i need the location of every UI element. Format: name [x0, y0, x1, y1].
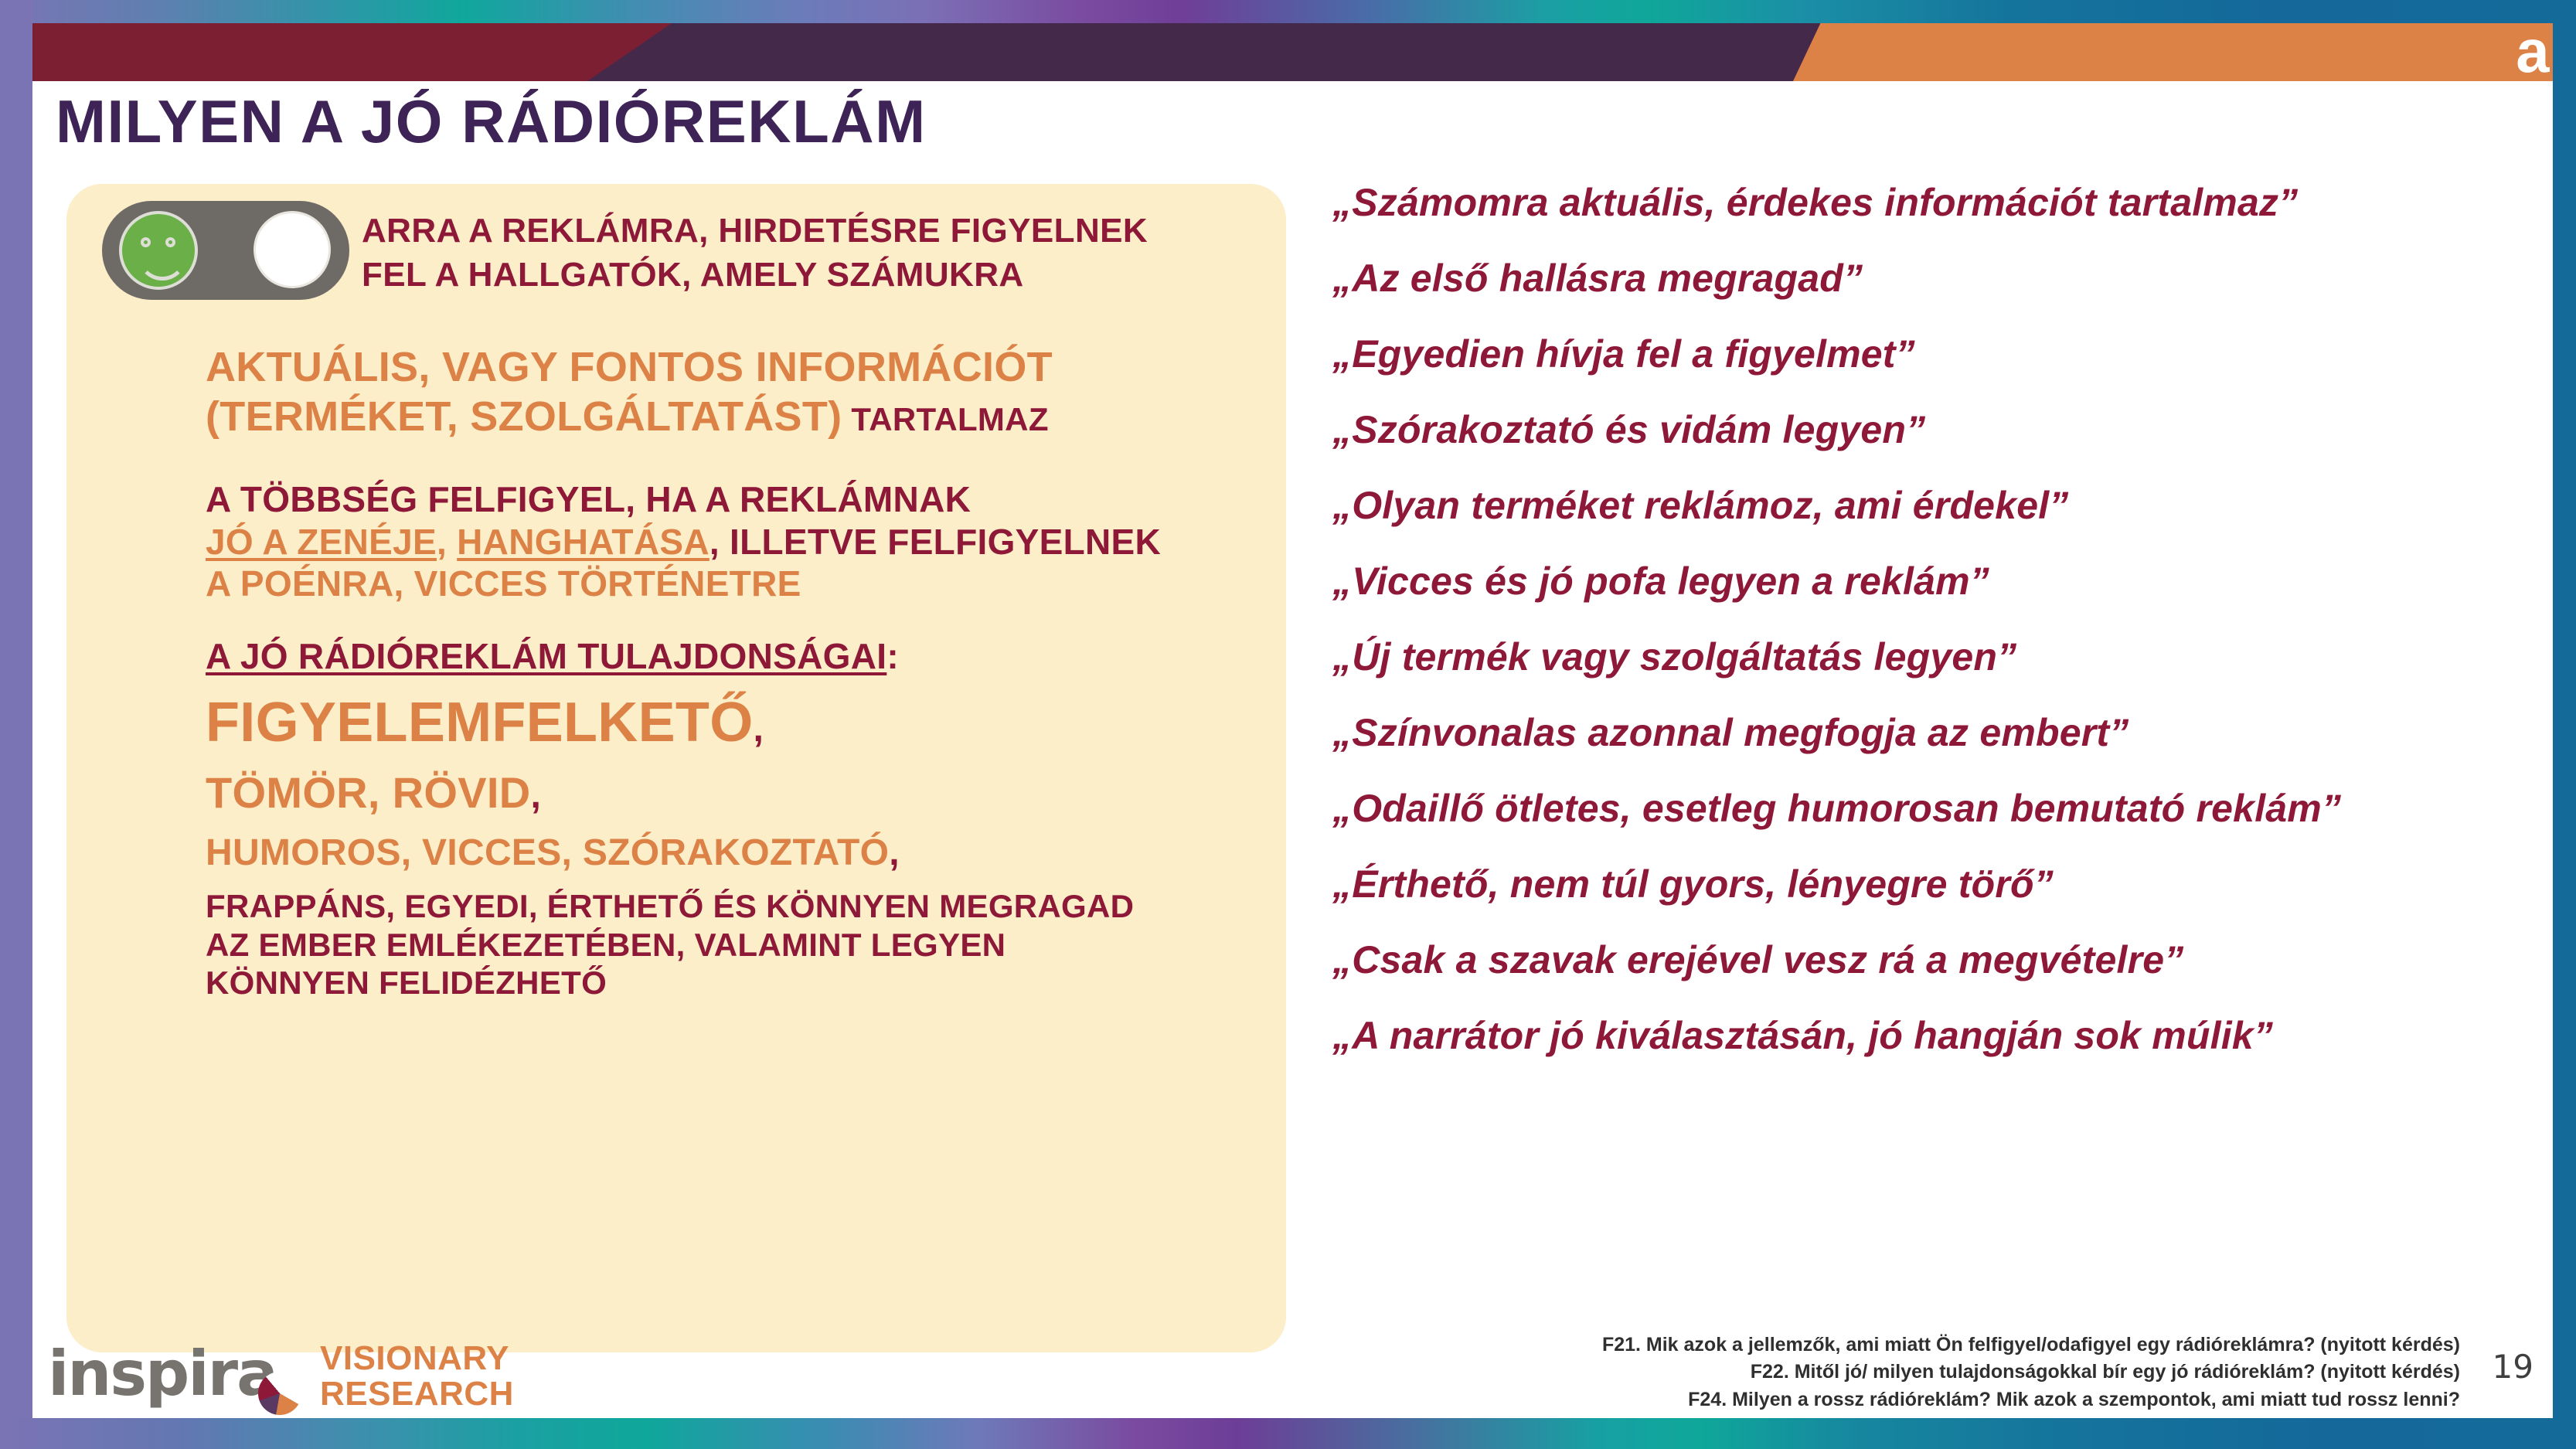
spacer-6 [206, 875, 1288, 887]
quote-item: „Csak a szavak erejével vesz rá a megvét… [1332, 937, 2538, 983]
b3-item-4-line-1: FRAPPÁNS, EGYEDI, ÉRTHETŐ ÉS KÖNNYEN MEG… [206, 887, 1288, 926]
b2-line-1: A TÖBBSÉG FELFIGYEL, HA A REKLÁMNAK [206, 478, 1288, 520]
b3-heading-colon: : [886, 636, 899, 676]
intro-line-1: ARRA A REKLÁMRA, HIRDETÉSRE FIGYELNEK [362, 209, 1204, 253]
spacer-5 [206, 819, 1288, 832]
intro-line-2: FEL A HALLGATÓK, AMELY SZÁMUKRA [362, 253, 1204, 297]
quote-item: „Számomra aktuális, érdekes információt … [1332, 179, 2538, 226]
b1-line-1: AKTUÁLIS, VAGY FONTOS INFORMÁCIÓT [206, 343, 1288, 393]
b2-link-zene: JÓ A ZENÉJE [206, 522, 437, 562]
quote-item: „Új termék vagy szolgáltatás legyen” [1332, 634, 2538, 680]
right-edge-bar [2553, 0, 2576, 1449]
header-band-purple [587, 23, 1886, 81]
smiley-mouth-icon [138, 247, 187, 281]
bottom-gradient-bar [0, 1418, 2576, 1449]
footnote-line: F21. Mik azok a jellemzők, ami miatt Ön … [1486, 1332, 2460, 1359]
b2-line-2: JÓ A ZENÉJE, HANGHATÁSA, ILLETVE FELFIGY… [206, 521, 1288, 563]
quote-item: „Az első hallásra megragad” [1332, 255, 2538, 301]
card-body: AKTUÁLIS, VAGY FONTOS INFORMÁCIÓT (TERMÉ… [206, 343, 1288, 1002]
footnote-line: F24. Milyen a rossz rádióreklám? Mik azo… [1486, 1386, 2460, 1414]
b1-line-2-red: TARTALMAZ [842, 401, 1048, 437]
intro-text: ARRA A REKLÁMRA, HIRDETÉSRE FIGYELNEK FE… [362, 209, 1204, 297]
b1-line-2-orange: (TERMÉKET, SZOLGÁLTATÁST) [206, 393, 842, 440]
quote-item: „A narrátor jó kiválasztásán, jó hangján… [1332, 1012, 2538, 1059]
toggle-knob-icon [254, 211, 331, 288]
b2-link-hanghatas: HANGHATÁSA [457, 522, 710, 562]
quote-item: „Odaillő ötletes, esetleg humorosan bemu… [1332, 785, 2538, 832]
smiley-face-icon [119, 211, 198, 290]
logo-wordmark: inspira [48, 1338, 277, 1410]
slide: a MILYEN A JÓ RÁDIÓREKLÁM ARRA A REKLÁMR… [0, 0, 2576, 1449]
page-number: 19 [2493, 1348, 2533, 1386]
footnote-line: F22. Mitől jó/ milyen tulajdonságokkal b… [1486, 1359, 2460, 1386]
b3-item-3: HUMOROS, VICCES, SZÓRAKOZTATÓ, [206, 832, 1288, 876]
spacer-4 [206, 755, 1288, 767]
header-band-orange [1793, 23, 2576, 81]
b3-item-3-text: HUMOROS, VICCES, SZÓRAKOZTATÓ [206, 832, 889, 873]
logo-tagline-line-1: VISIONARY [320, 1341, 514, 1376]
logo-tagline: VISIONARY RESEARCH [320, 1341, 514, 1412]
b3-item-3-comma: , [889, 832, 900, 873]
b1-line-2: (TERMÉKET, SZOLGÁLTATÁST) TARTALMAZ [206, 393, 1288, 442]
b3-item-2-text: TÖMÖR, RÖVID [206, 768, 530, 817]
quote-item: „Színvonalas azonnal megfogja az embert” [1332, 709, 2538, 756]
footnotes: F21. Mik azok a jellemzők, ami miatt Ön … [1486, 1332, 2460, 1414]
quote-item: „Érthető, nem túl gyors, lényegre törő” [1332, 861, 2538, 907]
brand-a-logo-icon: a [2514, 25, 2550, 79]
spacer-1 [206, 441, 1288, 478]
quote-item: „Szórakoztató és vidám legyen” [1332, 406, 2538, 453]
pie-chart-icon [258, 1372, 301, 1415]
quote-item: „Egyedien hívja fel a figyelmet” [1332, 331, 2538, 377]
logo-tagline-line-2: RESEARCH [320, 1376, 514, 1412]
b2-line-3: A POÉNRA, VICCES TÖRTÉNETRE [206, 563, 1288, 604]
b3-heading: A JÓ RÁDIÓREKLÁM TULAJDONSÁGAI: [206, 635, 1288, 677]
quotes-column: „Számomra aktuális, érdekes információt … [1332, 179, 2538, 1088]
b3-item-1-text: FIGYELEMFELKETŐ [206, 692, 754, 753]
summary-card: ARRA A REKLÁMRA, HIRDETÉSRE FIGYELNEK FE… [66, 184, 1286, 1352]
quote-item: „Vicces és jó pofa legyen a reklám” [1332, 558, 2538, 604]
b3-item-1: FIGYELEMFELKETŐ, [206, 690, 1288, 756]
quote-item: „Olyan terméket reklámoz, ami érdekel” [1332, 482, 2538, 529]
toggle-smiley-icon [102, 201, 349, 300]
b2-line-2-rest: , ILLETVE FELFIGYELNEK [710, 522, 1161, 562]
left-edge-bar [0, 0, 32, 1449]
spacer-2 [206, 604, 1288, 635]
b2-sep-1: , [437, 522, 457, 562]
b3-item-2-comma: , [530, 775, 541, 816]
b3-item-4-line-3: KÖNNYEN FELIDÉZHETŐ [206, 964, 1288, 1002]
spacer-3 [206, 678, 1288, 690]
b3-heading-text: A JÓ RÁDIÓREKLÁM TULAJDONSÁGAI [206, 636, 886, 676]
b3-item-4-line-2: AZ EMBER EMLÉKEZETÉBEN, VALAMINT LEGYEN [206, 926, 1288, 964]
inspira-logo: inspira VISIONARY RESEARCH [48, 1332, 527, 1412]
b3-item-1-comma: , [754, 709, 764, 750]
b3-item-2: TÖMÖR, RÖVID, [206, 767, 1288, 818]
page-title: MILYEN A JÓ RÁDIÓREKLÁM [56, 87, 927, 157]
